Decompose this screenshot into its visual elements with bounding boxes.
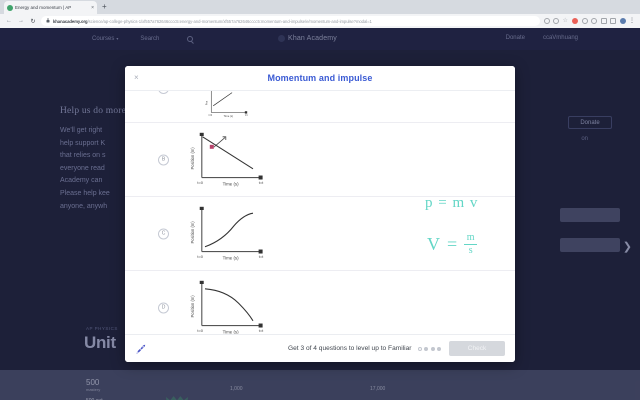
close-tab-icon[interactable]: × bbox=[91, 5, 94, 11]
url-text: khanacademy.org/science/ap-college-physi… bbox=[53, 19, 372, 24]
extension-icon[interactable] bbox=[582, 18, 588, 24]
ink-numerator: m bbox=[467, 233, 475, 243]
check-button[interactable]: Check bbox=[449, 341, 505, 356]
choice-graph-curve-decreasing: Position (m) t=0 Time (s) t=t bbox=[181, 278, 269, 335]
progress-dot bbox=[424, 347, 428, 351]
tab-title: Energy and momentum | AP bbox=[15, 5, 89, 10]
modal-header: × Momentum and impulse bbox=[125, 66, 515, 91]
svg-text:Time (s): Time (s) bbox=[224, 114, 233, 118]
ink-equation-momentum: p = m v bbox=[425, 195, 478, 212]
modal-title: Momentum and impulse bbox=[267, 73, 372, 83]
ink-denominator: s bbox=[469, 246, 473, 256]
avatar[interactable] bbox=[620, 18, 626, 24]
svg-text:t=0: t=0 bbox=[197, 328, 203, 333]
svg-text:t=0: t=0 bbox=[197, 180, 203, 185]
reload-icon[interactable]: ↻ bbox=[29, 18, 37, 25]
browser-tab[interactable]: Energy and momentum | AP × bbox=[4, 1, 97, 14]
answer-choice[interactable]: B Position (m) t=0 Time (s) t=t bbox=[125, 123, 515, 197]
browser-menu-icon[interactable]: ⋮ bbox=[629, 18, 635, 24]
svg-text:Time (s): Time (s) bbox=[223, 255, 239, 260]
svg-text:Time (s): Time (s) bbox=[223, 329, 239, 334]
svg-text:t=0: t=0 bbox=[209, 114, 213, 117]
ink-equation-velocity: V = m s bbox=[427, 233, 477, 256]
toolbar-icons: ☆ ⋮ bbox=[544, 18, 636, 24]
browser-toolbar: ← → ↻ khanacademy.org/science/ap-college… bbox=[0, 14, 640, 28]
exercise-modal: × Momentum and impulse B Pos t=0 Ti bbox=[125, 66, 515, 362]
url-domain: khanacademy.org bbox=[53, 19, 88, 24]
svg-text:t=t: t=t bbox=[259, 328, 264, 333]
answer-choice-list: B Pos t=0 Time (s) t=t B bbox=[125, 91, 515, 334]
svg-text:Time (s): Time (s) bbox=[223, 181, 239, 186]
answer-choice[interactable]: B Pos t=0 Time (s) t=t bbox=[125, 91, 515, 123]
ink-lhs: V bbox=[427, 234, 440, 255]
progress-dots bbox=[418, 347, 442, 351]
progress-dot bbox=[437, 347, 441, 351]
bookmark-star-icon[interactable]: ☆ bbox=[563, 18, 569, 24]
choice-graph-line-decreasing: Position (m) t=0 Time (s) t=t bbox=[181, 130, 269, 190]
lock-icon bbox=[46, 18, 50, 24]
choice-graph-line-increasing: Pos t=0 Time (s) t=t bbox=[181, 91, 269, 120]
ink-fraction: m s bbox=[464, 233, 477, 256]
back-icon[interactable]: ← bbox=[5, 18, 13, 24]
choice-graph-curve-increasing: Position (m) t=0 Time (s) t=t bbox=[181, 204, 269, 264]
browser-tab-strip: Energy and momentum | AP × + bbox=[0, 0, 640, 14]
answer-choice[interactable]: D Position (m) t=0 Time (s) t=t bbox=[125, 271, 515, 334]
svg-text:t=t: t=t bbox=[259, 254, 264, 259]
screen: Energy and momentum | AP × + ← → ↻ khana… bbox=[0, 0, 640, 400]
progress-dot bbox=[418, 347, 422, 351]
extensions-puzzle-icon[interactable] bbox=[591, 18, 597, 24]
address-bar[interactable]: khanacademy.org/science/ap-college-physi… bbox=[41, 16, 540, 26]
svg-text:Pos: Pos bbox=[205, 100, 209, 105]
choice-radio[interactable]: B bbox=[158, 154, 169, 165]
rocket-icon bbox=[135, 343, 147, 355]
choice-radio[interactable]: D bbox=[158, 302, 169, 313]
svg-text:Position (m): Position (m) bbox=[190, 146, 195, 169]
password-icon[interactable] bbox=[553, 18, 559, 24]
screencast-icon[interactable] bbox=[601, 18, 607, 24]
choice-radio[interactable]: B bbox=[158, 91, 169, 94]
svg-text:Position (m): Position (m) bbox=[190, 220, 195, 243]
ink-equals: = bbox=[447, 234, 457, 255]
favicon-icon bbox=[7, 5, 13, 11]
new-tab-button[interactable]: + bbox=[102, 3, 107, 11]
reading-list-icon[interactable] bbox=[610, 18, 616, 24]
extension-red-icon[interactable] bbox=[572, 18, 578, 24]
svg-text:t=t: t=t bbox=[245, 114, 248, 117]
forward-icon[interactable]: → bbox=[17, 18, 25, 24]
modal-footer: Get 3 of 4 questions to level up to Fami… bbox=[125, 334, 515, 362]
svg-text:t=t: t=t bbox=[259, 180, 264, 185]
modal-body: B Pos t=0 Time (s) t=t B bbox=[125, 91, 515, 334]
choice-radio[interactable]: C bbox=[158, 228, 169, 239]
level-up-message: Get 3 of 4 questions to level up to Fami… bbox=[288, 345, 412, 352]
share-icon[interactable] bbox=[544, 18, 550, 24]
svg-text:t=0: t=0 bbox=[197, 254, 203, 259]
svg-text:Position (m): Position (m) bbox=[190, 294, 195, 317]
url-path: /science/ap-college-physics-1/xf557a7626… bbox=[88, 19, 372, 24]
progress-dot bbox=[431, 347, 435, 351]
close-icon[interactable]: × bbox=[134, 74, 139, 82]
